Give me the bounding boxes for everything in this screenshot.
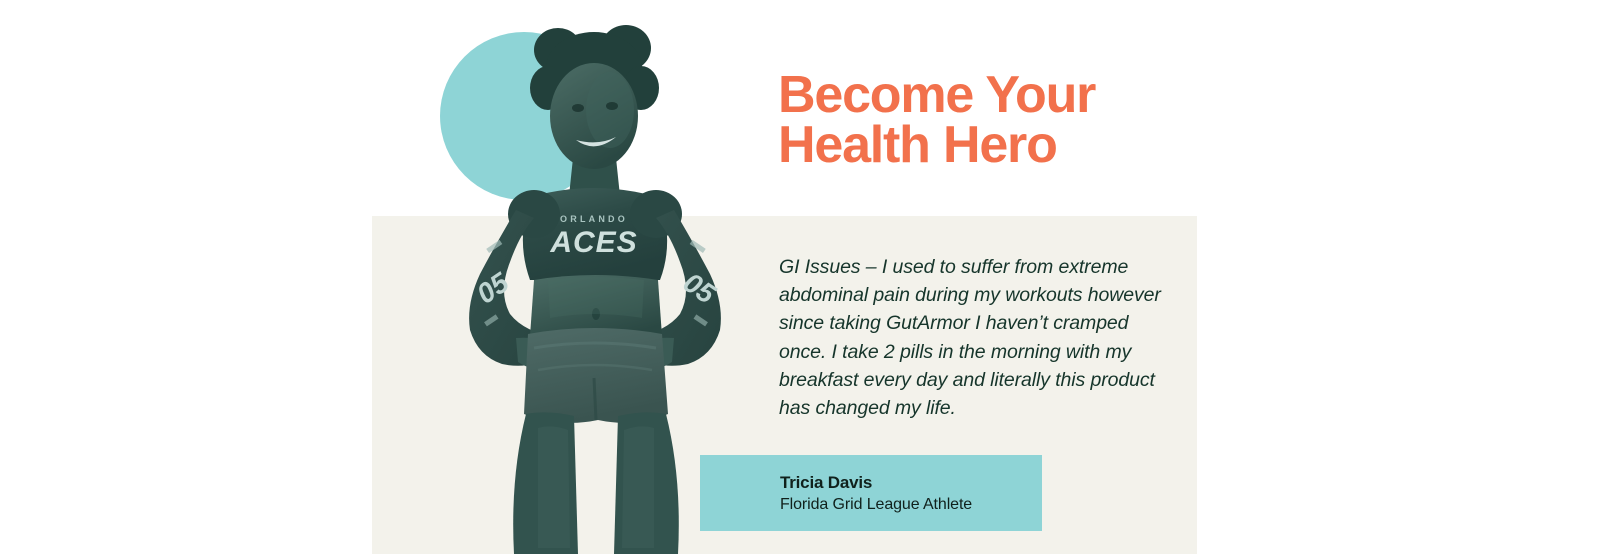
author-role: Florida Grid League Athlete bbox=[780, 494, 972, 516]
attribution-bar: Tricia Davis Florida Grid League Athlete bbox=[700, 455, 1042, 531]
svg-text:ORLANDO: ORLANDO bbox=[560, 214, 628, 224]
testimonial-hero-banner: ORLANDO ACES 05 05 bbox=[0, 0, 1600, 554]
author-name: Tricia Davis bbox=[780, 472, 972, 494]
attribution-text-group: Tricia Davis Florida Grid League Athlete bbox=[780, 472, 972, 516]
svg-text:ACES: ACES bbox=[549, 226, 637, 259]
page-title: Become Your Health Hero bbox=[778, 70, 1198, 170]
testimonial-quote: GI Issues – I used to suffer from extrem… bbox=[779, 253, 1164, 422]
